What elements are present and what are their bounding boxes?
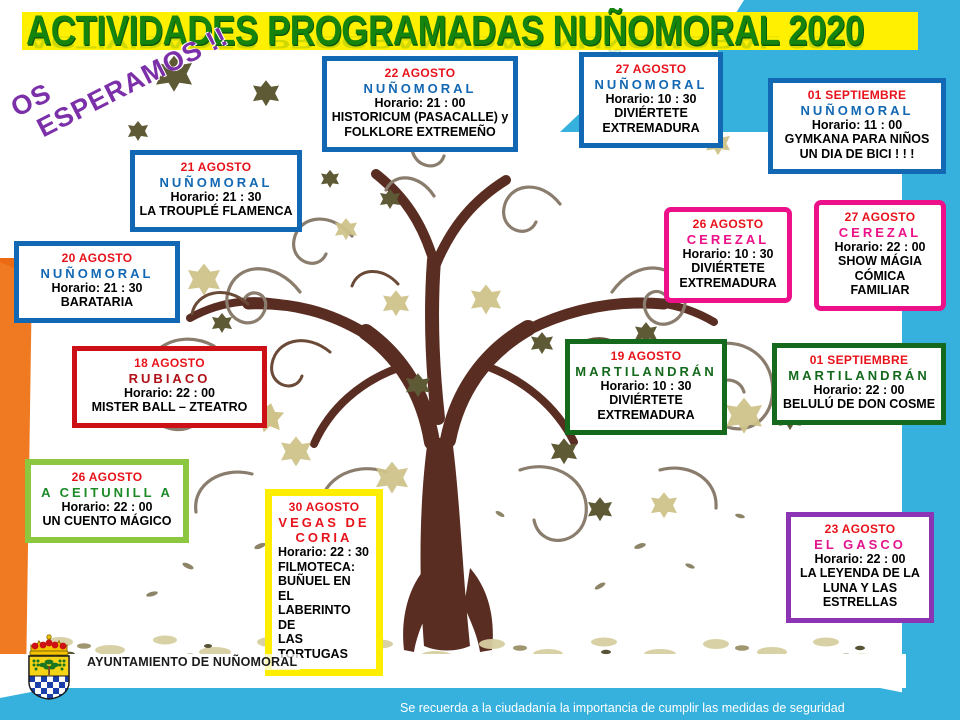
event-place: EL GASCO <box>795 537 925 552</box>
event-card-nunomoral-21-agosto[interactable]: 21 AGOSTO NUÑOMORAL Horario: 21 : 30 LA … <box>130 150 302 232</box>
event-line: CÓMICA <box>823 269 937 284</box>
event-line: LUNA Y LAS <box>795 581 925 596</box>
safety-measures-note: Se recuerda a la ciudadanía la importanc… <box>400 701 845 715</box>
event-horario: Horario: 22 : 00 <box>795 552 925 567</box>
event-date: 27 AGOSTO <box>588 63 714 77</box>
event-date: 23 AGOSTO <box>795 523 925 537</box>
event-line: DIVIÉRTETE <box>588 106 714 121</box>
event-card-cerezal-27-agosto[interactable]: 27 AGOSTO CEREZAL Horario: 22 : 00 SHOW … <box>814 200 946 311</box>
event-card-nunomoral-01-septiembre[interactable]: 01 SEPTIEMBRE NUÑOMORAL Horario: 11 : 00… <box>768 78 946 174</box>
event-date: 21 AGOSTO <box>139 161 293 175</box>
event-horario: Horario: 22 : 00 <box>35 500 179 515</box>
event-card-aceitunilla-26-agosto[interactable]: 26 AGOSTO A CEITUNILL A Horario: 22 : 00… <box>25 459 189 543</box>
event-date: 18 AGOSTO <box>81 357 258 371</box>
event-line: MISTER BALL – ZTEATRO <box>81 400 258 415</box>
event-line: DIVIÉRTETE <box>673 261 783 276</box>
event-horario: Horario: 22 : 30 <box>278 545 370 560</box>
event-place: A CEITUNILL A <box>35 485 179 500</box>
event-place: MARTILANDRÁN <box>574 364 718 379</box>
event-horario: Horario: 21 : 30 <box>139 190 293 205</box>
event-line: GYMKANA PARA NIÑOS <box>777 132 937 147</box>
event-date: 01 SEPTIEMBRE <box>777 89 937 103</box>
event-horario: Horario: 22 : 00 <box>81 386 258 401</box>
event-line: FAMILIAR <box>823 283 937 298</box>
event-place: NUÑOMORAL <box>23 266 171 281</box>
event-date: 30 AGOSTO <box>278 501 370 515</box>
event-line: UN DIA DE BICI ! ! ! <box>777 147 937 162</box>
event-line: BELULÚ DE DON COSME <box>781 397 937 412</box>
event-horario: Horario: 21 : 00 <box>331 96 509 111</box>
event-place: VEGAS DE CORIA <box>278 515 370 545</box>
event-date: 20 AGOSTO <box>23 252 171 266</box>
event-line: LA TROUPLÉ FLAMENCA <box>139 204 293 219</box>
event-date: 01 SEPTIEMBRE <box>781 354 937 368</box>
event-date: 26 AGOSTO <box>35 471 179 485</box>
event-place: NUÑOMORAL <box>139 175 293 190</box>
poster-canvas: ACTIVIDADES PROGRAMADAS NUÑOMORAL 2020 A… <box>0 0 960 720</box>
event-place: NUÑOMORAL <box>331 81 509 96</box>
event-card-nunomoral-27-agosto[interactable]: 27 AGOSTO NUÑOMORAL Horario: 10 : 30 DIV… <box>579 52 723 148</box>
event-line: SHOW MÁGIA <box>823 254 937 269</box>
event-place: MARTILANDRÁN <box>781 368 937 383</box>
event-line: EXTREMADURA <box>673 276 783 291</box>
event-horario: Horario: 10 : 30 <box>673 247 783 262</box>
event-line: BARATARIA <box>23 295 171 310</box>
event-line: LA LEYENDA DE LA <box>795 566 925 581</box>
event-place: CEREZAL <box>673 232 783 247</box>
event-place: RUBIACO <box>81 371 258 386</box>
event-place: NUÑOMORAL <box>588 77 714 92</box>
event-horario: Horario: 11 : 00 <box>777 118 937 133</box>
event-horario: Horario: 21 : 30 <box>23 281 171 296</box>
event-card-cerezal-26-agosto[interactable]: 26 AGOSTO CEREZAL Horario: 10 : 30 DIVIÉ… <box>664 207 792 303</box>
event-card-nunomoral-20-agosto[interactable]: 20 AGOSTO NUÑOMORAL Horario: 21 : 30 BAR… <box>14 241 180 323</box>
event-date: 22 AGOSTO <box>331 67 509 81</box>
event-line: DIVIÉRTETE <box>574 393 718 408</box>
event-card-nunomoral-22-agosto[interactable]: 22 AGOSTO NUÑOMORAL Horario: 21 : 00 HIS… <box>322 56 518 152</box>
event-line: LABERINTO DE <box>278 603 370 632</box>
event-line: EXTREMADURA <box>574 408 718 423</box>
event-line: EXTREMADURA <box>588 121 714 136</box>
event-line: BUÑUEL EN EL <box>278 574 370 603</box>
event-line: FOLKLORE EXTREMEÑO <box>331 125 509 140</box>
event-date: 26 AGOSTO <box>673 218 783 232</box>
event-line: UN CUENTO MÁGICO <box>35 514 179 529</box>
event-place: CEREZAL <box>823 225 937 240</box>
event-line: ESTRELLAS <box>795 595 925 610</box>
event-horario: Horario: 10 : 30 <box>574 379 718 394</box>
event-line: HISTORICUM (PASACALLE) y <box>331 110 509 125</box>
event-horario: Horario: 10 : 30 <box>588 92 714 107</box>
event-card-vegasdecoria-30-agosto[interactable]: 30 AGOSTO VEGAS DE CORIA Horario: 22 : 3… <box>265 489 383 676</box>
event-date: 19 AGOSTO <box>574 350 718 364</box>
ayuntamiento-label: AYUNTAMIENTO DE NUÑOMORAL <box>84 654 300 670</box>
event-place: NUÑOMORAL <box>777 103 937 118</box>
event-date: 27 AGOSTO <box>823 211 937 225</box>
event-horario: Horario: 22 : 00 <box>823 240 937 255</box>
event-card-martilandran-01-septiembre[interactable]: 01 SEPTIEMBRE MARTILANDRÁN Horario: 22 :… <box>772 343 946 425</box>
event-card-martilandran-19-agosto[interactable]: 19 AGOSTO MARTILANDRÁN Horario: 10 : 30 … <box>565 339 727 435</box>
event-horario: Horario: 22 : 00 <box>781 383 937 398</box>
event-card-rubiaco-18-agosto[interactable]: 18 AGOSTO RUBIACO Horario: 22 : 00 MISTE… <box>72 346 267 428</box>
event-card-elgasco-23-agosto[interactable]: 23 AGOSTO EL GASCO Horario: 22 : 00 LA L… <box>786 512 934 623</box>
coat-of-arms-icon <box>22 632 76 700</box>
event-line: FILMOTECA: <box>278 560 370 575</box>
